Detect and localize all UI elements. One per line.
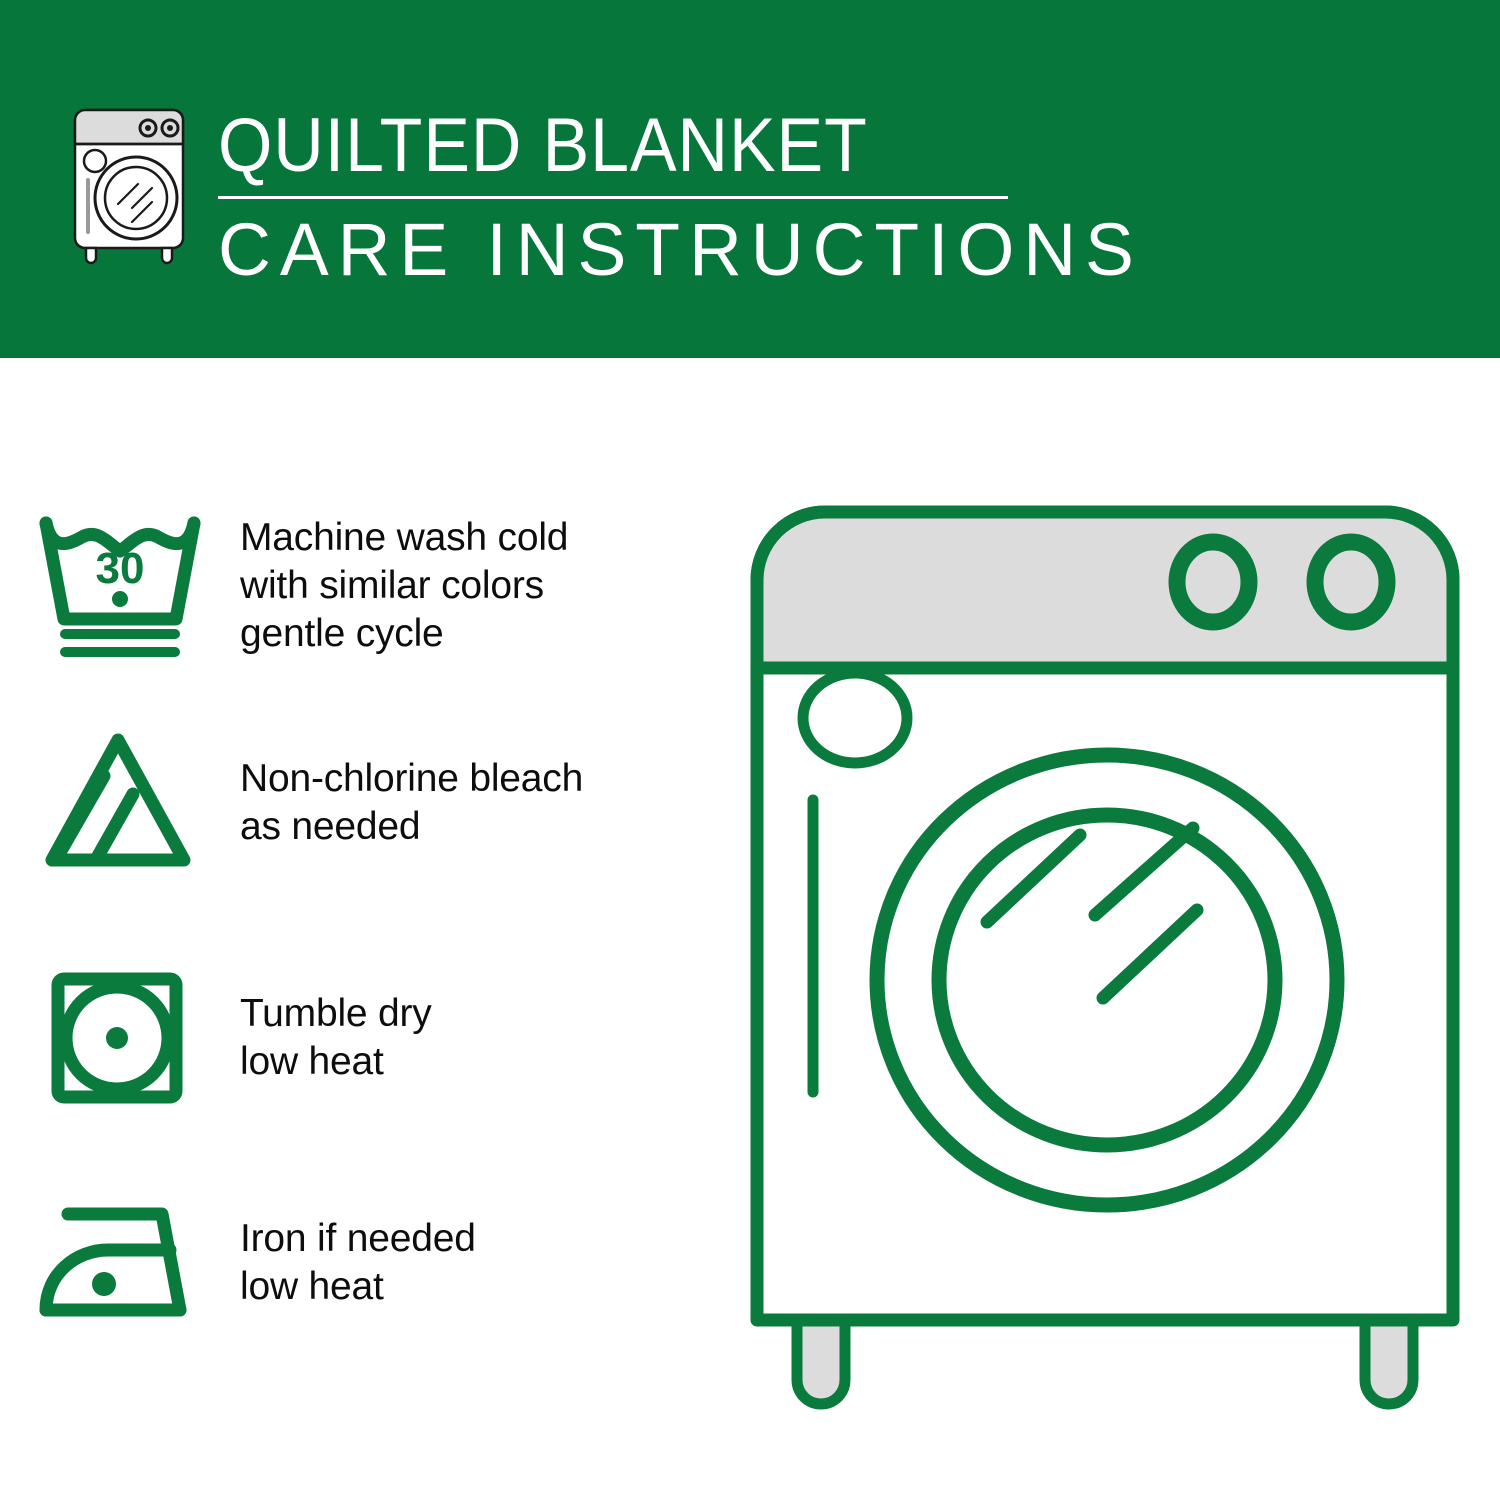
- wash-basin-30-icon: 30: [0, 506, 240, 666]
- machine-leg-right: [1365, 1318, 1413, 1404]
- care-symbol-list: 30 Machine wash cold with similar colors…: [0, 358, 720, 1500]
- machine-leg-left: [797, 1318, 845, 1404]
- care-row-iron: Iron if needed low heat: [0, 1183, 720, 1343]
- tumble-dry-icon: [0, 958, 240, 1118]
- iron-icon: [0, 1183, 240, 1343]
- care-text-iron: Iron if needed low heat: [240, 1215, 476, 1311]
- page-subtitle: CARE INSTRUCTIONS: [218, 209, 1020, 291]
- care-row-tumble-dry: Tumble dry low heat: [0, 958, 720, 1118]
- care-row-bleach: Non-chlorine bleach as needed: [0, 723, 720, 883]
- care-instructions-page: QUILTED BLANKET CARE INSTRUCTIONS: [0, 0, 1500, 1500]
- care-row-machine-wash: 30 Machine wash cold with similar colors…: [0, 506, 720, 666]
- care-text-tumble-dry: Tumble dry low heat: [240, 990, 432, 1086]
- header-title-block: QUILTED BLANKET CARE INSTRUCTIONS: [218, 104, 1028, 291]
- title-divider: [218, 196, 1008, 199]
- bleach-triangle-icon: [0, 723, 240, 883]
- page-title: QUILTED BLANKET: [218, 104, 963, 188]
- svg-text:30: 30: [96, 544, 145, 593]
- header-band: QUILTED BLANKET CARE INSTRUCTIONS: [0, 0, 1500, 358]
- washing-machine-illustration: [735, 490, 1475, 1440]
- washing-machine-logo-icon: [66, 104, 192, 266]
- care-text-machine-wash: Machine wash cold with similar colors ge…: [240, 514, 568, 658]
- care-text-bleach: Non-chlorine bleach as needed: [240, 755, 583, 851]
